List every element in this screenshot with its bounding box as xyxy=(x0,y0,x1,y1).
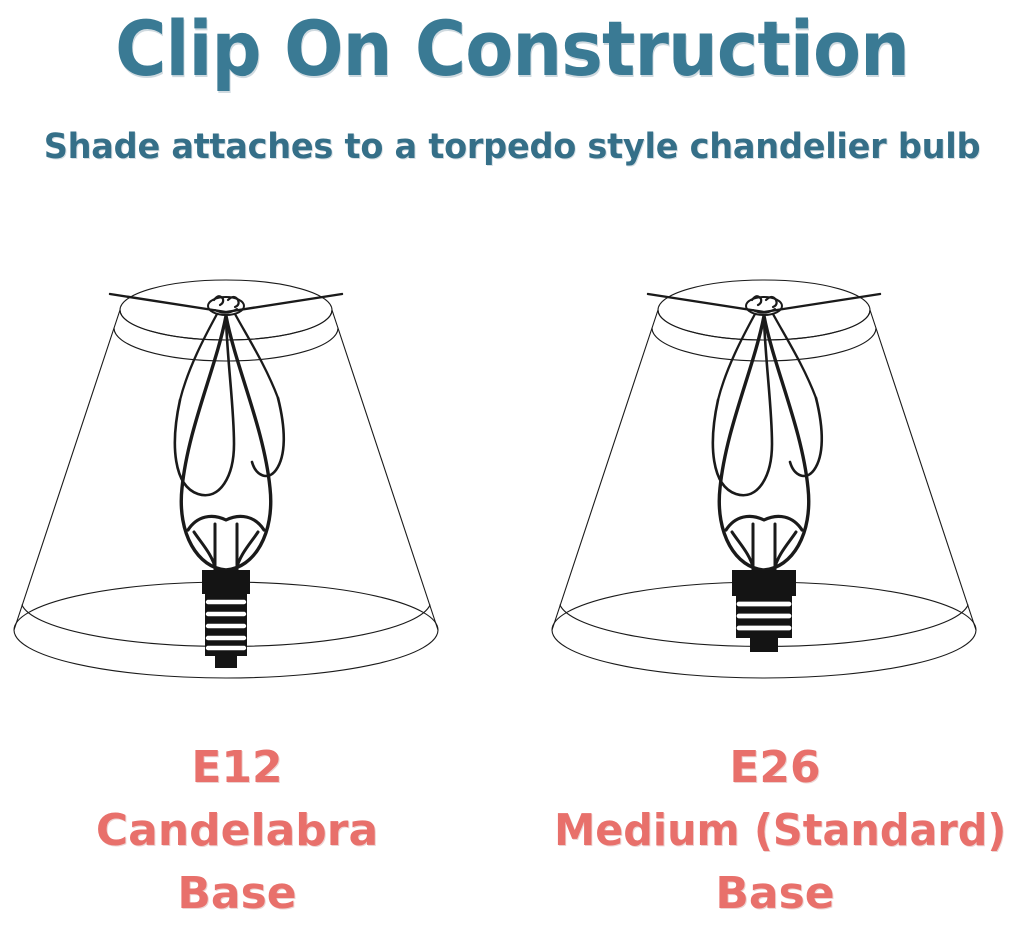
caption-e26-line-3: Base xyxy=(540,862,1010,925)
infographic-page: Clip On Construction Shade attaches to a… xyxy=(0,0,1024,933)
caption-e12-line-3: Base xyxy=(2,862,472,925)
caption-e12-line-1: E12 xyxy=(2,736,472,799)
figure-e26 xyxy=(540,248,1010,698)
clip-on-lampshade-e12-icon xyxy=(2,248,472,698)
caption-e26-line-2: Medium (Standard) xyxy=(554,799,996,862)
caption-e26: E26 Medium (Standard) Base xyxy=(540,736,1010,925)
page-subtitle: Shade attaches to a torpedo style chande… xyxy=(20,126,1003,168)
caption-e12-line-2: Candelabra xyxy=(2,799,472,862)
clip-on-lampshade-e26-icon xyxy=(540,248,1010,698)
caption-e26-line-1: E26 xyxy=(540,736,1010,799)
page-title: Clip On Construction xyxy=(41,6,983,92)
figure-e12 xyxy=(2,248,472,698)
caption-e12: E12 Candelabra Base xyxy=(2,736,472,925)
